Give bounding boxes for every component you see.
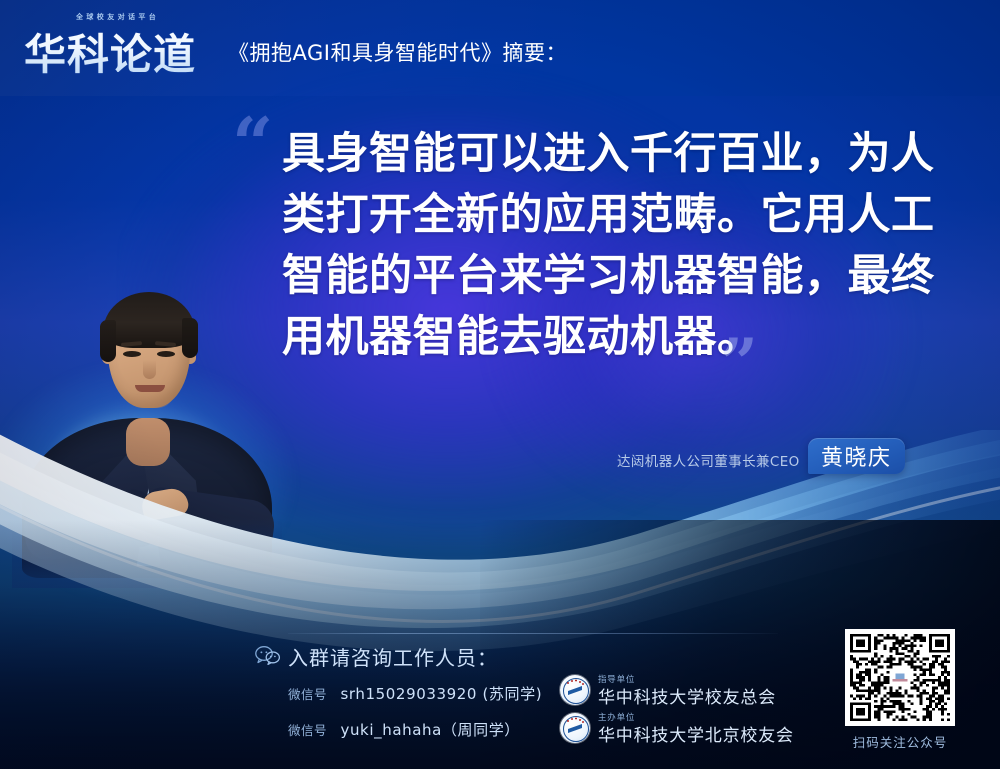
wechat-id-value[interactable]: srh15029033920 (苏同学) xyxy=(340,685,542,703)
wechat-id-label: 微信号 xyxy=(288,687,327,702)
university-seal-icon xyxy=(560,675,590,705)
portrait-chin-shadow xyxy=(126,392,174,408)
quote-close-icon: ” xyxy=(720,330,758,396)
quote-text: 具身智能可以进入千行百业，为人 类打开全新的应用范畴。它用人工 智能的平台来学习… xyxy=(282,124,942,368)
contact-heading: 入群请咨询工作人员： xyxy=(288,642,498,671)
quote-line: 类打开全新的应用范畴。它用人工 xyxy=(282,185,942,246)
speaker-name: 黄晓庆 xyxy=(821,440,892,472)
page-title: 《拥抱AGI和具身智能时代》摘要： xyxy=(228,37,567,67)
portrait-eye-right xyxy=(157,351,175,357)
portrait-nose xyxy=(143,360,156,379)
portrait-hair-side-left xyxy=(100,320,116,362)
header-bar: 全球校友对话平台 华科论道 《拥抱AGI和具身智能时代》摘要： xyxy=(0,0,1000,96)
wechat-id-label: 微信号 xyxy=(288,723,327,738)
quote-line: 具身智能可以进入千行百业，为人 xyxy=(282,124,942,185)
wechat-contact-row: 微信号 srh15029033920 (苏同学) xyxy=(288,683,542,704)
portrait-mouth xyxy=(135,385,165,392)
organization-name: 华中科技大学校友总会 xyxy=(598,683,776,708)
portrait-hair-side-right xyxy=(182,318,198,358)
quote-line: 智能的平台来学习机器智能，最终 xyxy=(282,246,942,307)
wechat-id-value[interactable]: yuki_hahaha（周同学） xyxy=(340,721,519,739)
brand-logo[interactable]: 全球校友对话平台 华科论道 xyxy=(24,12,219,74)
speaker-role: 达闼机器人公司董事长兼CEO xyxy=(617,450,800,470)
qr-code-image xyxy=(850,634,950,721)
poster-canvas: 全球校友对话平台 华科论道 《拥抱AGI和具身智能时代》摘要： “ 具身智能可以… xyxy=(0,0,1000,769)
university-seal-icon xyxy=(560,713,590,743)
organization-name: 华中科技大学北京校友会 xyxy=(598,721,794,746)
university-seal-text-ring xyxy=(566,717,584,724)
quote-open-icon: “ xyxy=(232,108,273,180)
wechat-icon xyxy=(255,645,281,665)
brand-logo-title: 华科论道 xyxy=(24,21,196,82)
quote-line: 用机器智能去驱动机器。 xyxy=(282,307,942,368)
qr-code[interactable] xyxy=(845,629,955,726)
wechat-contact-row: 微信号 yuki_hahaha（周同学） xyxy=(288,719,520,740)
contact-divider xyxy=(288,633,778,634)
qr-caption: 扫码关注公众号 xyxy=(845,732,955,751)
university-seal-text-ring xyxy=(566,679,584,686)
speaker-name-badge: 黄晓庆 xyxy=(808,438,905,474)
portrait-eye-left xyxy=(123,351,141,357)
